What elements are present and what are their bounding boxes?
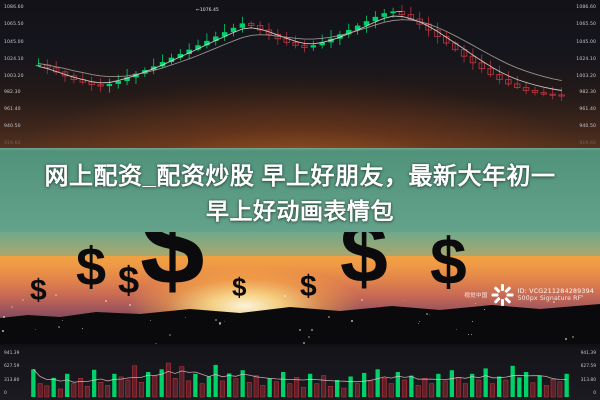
price-axis-label-right-6: 961.40 [579,107,596,112]
sparkle-particle [328,316,330,318]
price-chart-panel: 1086.60 1065.50 1045.00 1024.10 1003.20 … [0,0,600,155]
price-axis-label-left-4: 1003.20 [4,74,24,79]
sparkle-particle [311,329,313,331]
volume-axis-label-left-3: 0 [4,391,7,396]
sparkle-particle [426,313,428,315]
sparkle-particle [215,319,217,321]
image-canvas: 1086.60 1065.50 1045.00 1024.10 1003.20 … [0,0,600,400]
volume-axis-label-right-0: 941.39 [581,351,596,356]
price-axis-label-left-8: 919.60 [4,141,21,146]
price-axis-label-right-8: 919.60 [579,141,596,146]
sunset-photo: $ $ $ $ $ $ $ $ 视觉中国 ID: VCG211284289394… [0,232,600,350]
sparkle-particle [456,329,457,330]
dollar-sign-silhouette-6: $ [340,232,388,296]
volume-axis-label-right-1: 627.59 [581,364,596,369]
watermark-brand: 视觉中国 [464,291,487,299]
sunburst-icon [492,284,514,306]
volume-axis-label-left-1: 627.59 [4,364,19,369]
volume-chart-svg [0,348,600,400]
headline-line-1: 网上配资_配资炒股 早上好朋友，最新大年初一 [0,160,600,194]
sparkle-particle [351,320,353,322]
sparkle-particle [404,300,405,301]
volume-chart-panel: 941.39 627.59 313.80 0 941.39 627.59 313… [0,348,600,400]
sparkle-particle [150,320,151,321]
price-axis-label-right-0: 1086.60 [576,5,596,10]
sparkle-particle [284,295,286,297]
sparkle-particle [55,294,57,296]
price-axis-label-right-7: 940.50 [579,124,596,129]
volume-axis-label-left-2: 313.80 [4,378,19,383]
price-axis-label-right-1: 1065.50 [576,22,596,27]
price-axis-label-right-5: 982.30 [579,90,596,95]
sparkle-particle [361,299,363,301]
price-annotation: ←1076.45 [196,8,219,13]
sparkle-particle [471,334,472,335]
price-axis-label-left-6: 961.40 [4,107,21,112]
volume-axis-label-right-2: 313.80 [581,378,596,383]
price-axis-label-left-7: 940.50 [4,124,21,129]
price-axis-label-right-2: 1045.00 [576,40,596,45]
headline-line-2: 早上好动画表情包 [0,194,600,228]
volume-axis-label-left-0: 941.39 [4,351,19,356]
sparkle-particle [565,338,567,340]
sparkle-particle [419,321,420,322]
headline: 网上配资_配资炒股 早上好朋友，最新大年初一 早上好动画表情包 [0,160,600,228]
price-axis-label-left-3: 1024.10 [4,57,24,62]
price-axis-label-left-0: 1086.60 [4,5,24,10]
dollar-sign-silhouette-2: $ [76,240,106,294]
sparkle-particle [299,329,301,331]
sparkle-particle [484,309,485,310]
watermark: 视觉中国 ID: VCG211284289394 500px Signature… [464,284,594,306]
sparkle-particle [468,334,469,335]
price-axis-label-right-4: 1003.20 [576,74,596,79]
sparkle-particle [308,336,310,338]
watermark-id: ID: VCG211284289394 [518,287,594,295]
sparkle-particle [219,322,221,324]
price-axis-label-left-5: 982.30 [4,90,21,95]
sparkle-particle [105,300,107,302]
sparkle-particle [35,329,36,330]
sparkle-particle [429,314,430,315]
dollar-sign-silhouette-8: $ [430,232,467,294]
price-axis-label-left-2: 1045.00 [4,40,24,45]
volume-axis-label-right-3: 0 [593,391,596,396]
sparkle-particle [169,334,171,336]
price-axis-label-left-1: 1065.50 [4,22,24,27]
watermark-license: 500px Signature RF [518,295,594,303]
price-axis-label-right-3: 1024.10 [576,57,596,62]
price-chart-svg [0,0,600,155]
